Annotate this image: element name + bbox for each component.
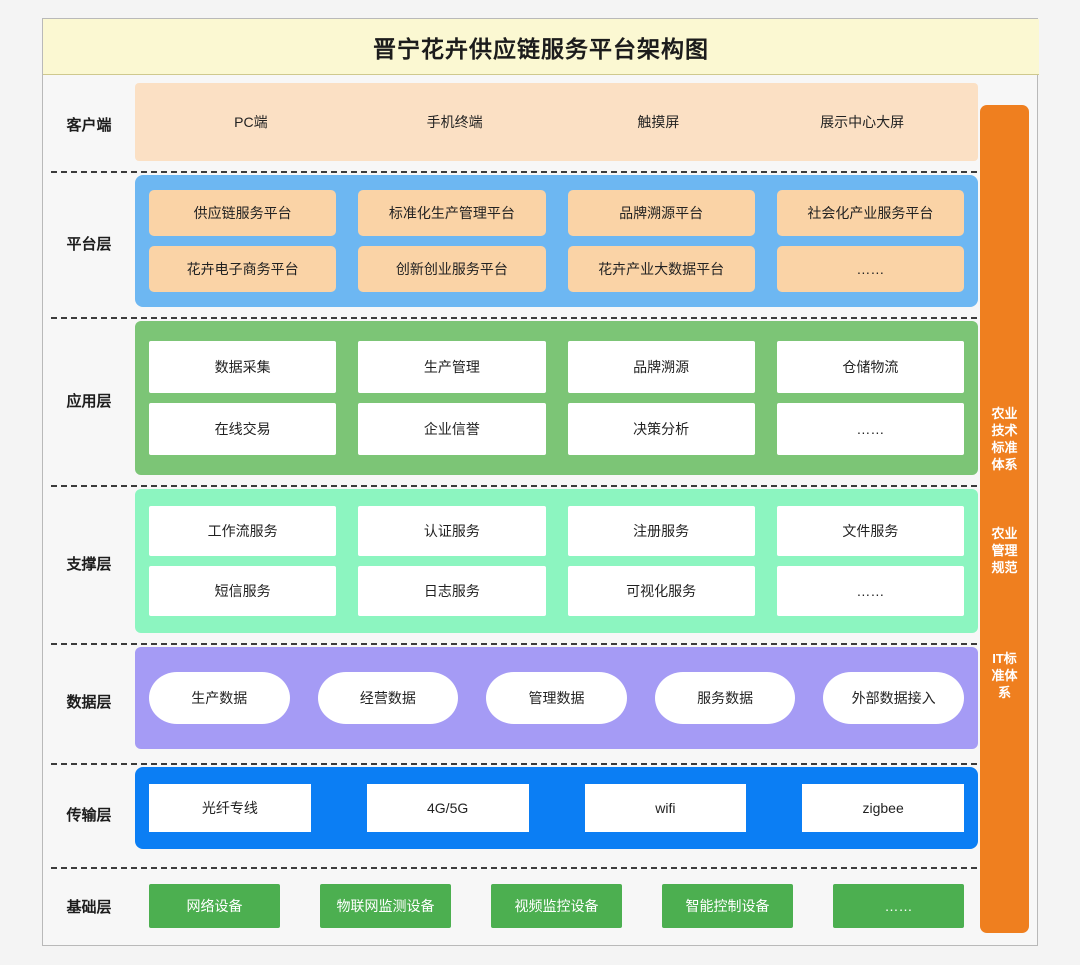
trans-card-wifi[interactable]: wifi xyxy=(585,784,747,832)
card-row: 短信服务 日志服务 可视化服务 …… xyxy=(149,566,964,616)
layer-label-data: 数据层 xyxy=(43,691,135,712)
layer-band-transmission: 光纤专线 4G/5G wifi zigbee xyxy=(135,767,978,849)
platform-card-ecommerce[interactable]: 花卉电子商务平台 xyxy=(149,246,336,292)
support-card-registration[interactable]: 注册服务 xyxy=(568,506,755,556)
layer-band-support: 工作流服务 认证服务 注册服务 文件服务 短信服务 日志服务 可视化服务 …… xyxy=(135,489,978,633)
pillar-label-agri-management-norms: 农业管理规范 xyxy=(986,525,1023,576)
platform-card-brand-traceability[interactable]: 品牌溯源平台 xyxy=(568,190,755,236)
layer-band-platform: 供应链服务平台 标准化生产管理平台 品牌溯源平台 社会化产业服务平台 花卉电子商… xyxy=(135,175,978,307)
app-card-more[interactable]: …… xyxy=(777,403,964,455)
support-card-more[interactable]: …… xyxy=(777,566,964,616)
data-card-operations[interactable]: 经营数据 xyxy=(318,672,459,724)
layer-row-client: 客户端 PC端 手机终端 触摸屏 展示中心大屏 xyxy=(43,83,978,165)
support-card-logging[interactable]: 日志服务 xyxy=(358,566,545,616)
support-card-authentication[interactable]: 认证服务 xyxy=(358,506,545,556)
card-row: 数据采集 生产管理 品牌溯源 仓储物流 xyxy=(149,341,964,393)
layer-row-application: 应用层 数据采集 生产管理 品牌溯源 仓储物流 在线交易 企业信誉 决策分析 …… xyxy=(43,321,978,479)
architecture-diagram: 晋宁花卉供应链服务平台架构图 客户端 PC端 手机终端 触摸屏 展示中心大屏 平… xyxy=(42,18,1038,946)
support-card-file[interactable]: 文件服务 xyxy=(777,506,964,556)
platform-card-social-industry[interactable]: 社会化产业服务平台 xyxy=(777,190,964,236)
app-card-warehouse-logistics[interactable]: 仓储物流 xyxy=(777,341,964,393)
layer-row-platform: 平台层 供应链服务平台 标准化生产管理平台 品牌溯源平台 社会化产业服务平台 花… xyxy=(43,175,978,311)
client-card-mobile[interactable]: 手机终端 xyxy=(353,97,557,147)
page-title: 晋宁花卉供应链服务平台架构图 xyxy=(373,30,709,64)
layer-separator xyxy=(51,867,987,869)
layer-row-support: 支撑层 工作流服务 认证服务 注册服务 文件服务 短信服务 日志服务 可视化服务… xyxy=(43,489,978,637)
layer-band-wrap-client: PC端 手机终端 触摸屏 展示中心大屏 xyxy=(135,83,978,165)
infra-card-more[interactable]: …… xyxy=(833,884,964,928)
infra-card-network-equipment[interactable]: 网络设备 xyxy=(149,884,280,928)
standards-pillar: 农业技术标准体系 农业管理规范 IT标准体系 xyxy=(980,105,1029,933)
layer-label-application: 应用层 xyxy=(43,390,135,411)
layer-separator xyxy=(51,171,987,173)
card-row: 工作流服务 认证服务 注册服务 文件服务 xyxy=(149,506,964,556)
diagram-title-banner: 晋宁花卉供应链服务平台架构图 xyxy=(43,19,1039,75)
support-card-sms[interactable]: 短信服务 xyxy=(149,566,336,616)
layer-band-infrastructure: 网络设备 物联网监测设备 视频监控设备 智能控制设备 …… xyxy=(135,873,978,939)
platform-card-standard-production[interactable]: 标准化生产管理平台 xyxy=(358,190,545,236)
layer-label-platform: 平台层 xyxy=(43,233,135,254)
layer-band-wrap-application: 数据采集 生产管理 品牌溯源 仓储物流 在线交易 企业信誉 决策分析 …… xyxy=(135,321,978,479)
trans-card-zigbee[interactable]: zigbee xyxy=(802,784,964,832)
card-row: 光纤专线 4G/5G wifi zigbee xyxy=(149,784,964,832)
app-card-online-trading[interactable]: 在线交易 xyxy=(149,403,336,455)
layer-label-support: 支撑层 xyxy=(43,553,135,574)
client-card-pc[interactable]: PC端 xyxy=(149,97,353,147)
layer-separator xyxy=(51,317,987,319)
app-card-production-mgmt[interactable]: 生产管理 xyxy=(358,341,545,393)
trans-card-4g5g[interactable]: 4G/5G xyxy=(367,784,529,832)
client-card-touchscreen[interactable]: 触摸屏 xyxy=(557,97,761,147)
infra-card-video-surveillance[interactable]: 视频监控设备 xyxy=(491,884,622,928)
layer-band-client: PC端 手机终端 触摸屏 展示中心大屏 xyxy=(135,83,978,161)
app-card-data-collection[interactable]: 数据采集 xyxy=(149,341,336,393)
layer-band-wrap-support: 工作流服务 认证服务 注册服务 文件服务 短信服务 日志服务 可视化服务 …… xyxy=(135,489,978,637)
app-card-brand-traceability[interactable]: 品牌溯源 xyxy=(568,341,755,393)
card-row: 网络设备 物联网监测设备 视频监控设备 智能控制设备 …… xyxy=(149,884,964,928)
app-card-decision-analysis[interactable]: 决策分析 xyxy=(568,403,755,455)
platform-card-supplychain[interactable]: 供应链服务平台 xyxy=(149,190,336,236)
layer-label-client: 客户端 xyxy=(43,114,135,135)
layer-band-wrap-transmission: 光纤专线 4G/5G wifi zigbee xyxy=(135,767,978,861)
layer-row-infrastructure: 基础层 网络设备 物联网监测设备 视频监控设备 智能控制设备 …… xyxy=(43,871,978,941)
client-card-bigscreen[interactable]: 展示中心大屏 xyxy=(760,97,964,147)
layer-band-data: 生产数据 经营数据 管理数据 服务数据 外部数据接入 xyxy=(135,647,978,749)
card-row: PC端 手机终端 触摸屏 展示中心大屏 xyxy=(149,97,964,147)
support-card-workflow[interactable]: 工作流服务 xyxy=(149,506,336,556)
infra-card-smart-control[interactable]: 智能控制设备 xyxy=(662,884,793,928)
card-row: 供应链服务平台 标准化生产管理平台 品牌溯源平台 社会化产业服务平台 xyxy=(149,190,964,236)
data-card-external-access[interactable]: 外部数据接入 xyxy=(823,672,964,724)
card-row: 在线交易 企业信誉 决策分析 …… xyxy=(149,403,964,455)
layer-row-transmission: 传输层 光纤专线 4G/5G wifi zigbee xyxy=(43,767,978,861)
layer-band-application: 数据采集 生产管理 品牌溯源 仓储物流 在线交易 企业信誉 决策分析 …… xyxy=(135,321,978,475)
layer-row-data: 数据层 生产数据 经营数据 管理数据 服务数据 外部数据接入 xyxy=(43,647,978,755)
layer-label-transmission: 传输层 xyxy=(43,804,135,825)
pillar-label-agri-tech-standards: 农业技术标准体系 xyxy=(986,405,1023,473)
trans-card-fiber[interactable]: 光纤专线 xyxy=(149,784,311,832)
data-card-production[interactable]: 生产数据 xyxy=(149,672,290,724)
app-card-enterprise-credit[interactable]: 企业信誉 xyxy=(358,403,545,455)
platform-card-innovation[interactable]: 创新创业服务平台 xyxy=(358,246,545,292)
card-row: 生产数据 经营数据 管理数据 服务数据 外部数据接入 xyxy=(149,672,964,724)
layer-band-wrap-platform: 供应链服务平台 标准化生产管理平台 品牌溯源平台 社会化产业服务平台 花卉电子商… xyxy=(135,175,978,311)
layer-band-wrap-data: 生产数据 经营数据 管理数据 服务数据 外部数据接入 xyxy=(135,647,978,755)
data-card-management[interactable]: 管理数据 xyxy=(486,672,627,724)
pillar-label-it-standards: IT标准体系 xyxy=(986,650,1023,701)
platform-card-bigdata[interactable]: 花卉产业大数据平台 xyxy=(568,246,755,292)
platform-card-more[interactable]: …… xyxy=(777,246,964,292)
layer-separator xyxy=(51,763,987,765)
support-card-visualization[interactable]: 可视化服务 xyxy=(568,566,755,616)
layer-separator xyxy=(51,643,987,645)
card-row: 花卉电子商务平台 创新创业服务平台 花卉产业大数据平台 …… xyxy=(149,246,964,292)
layer-label-infrastructure: 基础层 xyxy=(43,896,135,917)
layer-separator xyxy=(51,485,987,487)
layer-band-wrap-infrastructure: 网络设备 物联网监测设备 视频监控设备 智能控制设备 …… xyxy=(135,873,978,939)
infra-card-iot-monitoring[interactable]: 物联网监测设备 xyxy=(320,884,451,928)
data-card-service[interactable]: 服务数据 xyxy=(655,672,796,724)
